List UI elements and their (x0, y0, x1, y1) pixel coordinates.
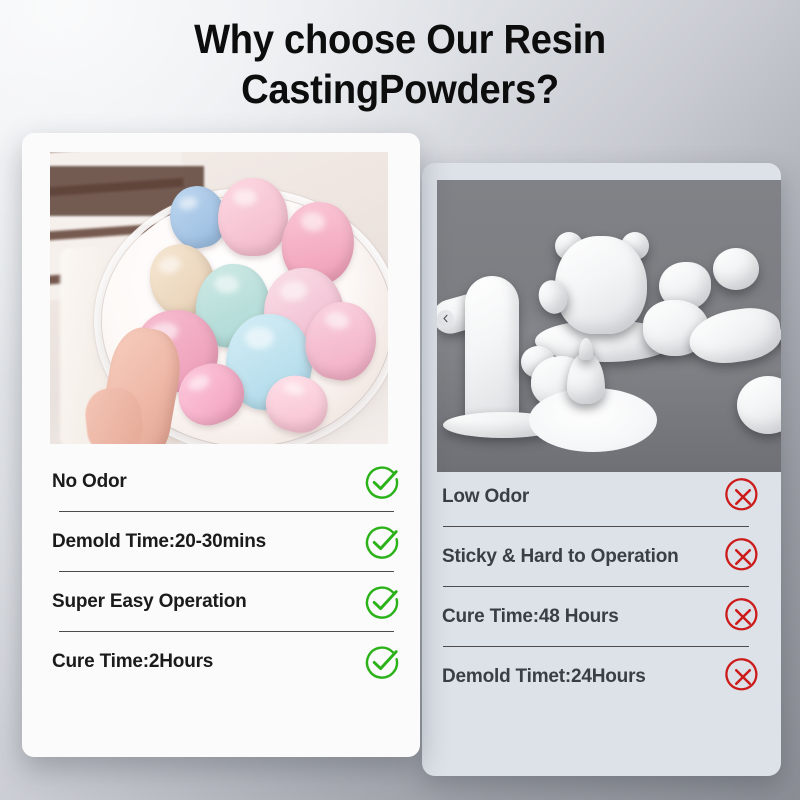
feature-divider (59, 571, 394, 572)
cross-circle-icon (723, 597, 763, 637)
feature-label: Cure Time:2Hours (52, 651, 213, 673)
feature-row: No Odor (52, 460, 402, 503)
feature-label: Demold Time:20-30mins (52, 531, 266, 553)
chevron-left-icon (441, 314, 450, 323)
feature-row: Super Easy Operation (52, 580, 402, 623)
our-product-card: No Odor Demold Time:20-30mins (22, 133, 420, 757)
other-product-card: Low Odor Sticky & Hard to Operation (422, 163, 781, 776)
feature-label: Cure Time:48 Hours (442, 606, 619, 628)
other-product-feature-list: Low Odor Sticky & Hard to Operation (422, 475, 781, 698)
check-circle-icon (362, 582, 402, 622)
cross-circle-icon (723, 477, 763, 517)
feature-label: Low Odor (442, 486, 529, 508)
feature-row: Demold Time:20-30mins (52, 520, 402, 563)
carousel-prev-button[interactable] (437, 310, 454, 327)
feature-divider (443, 646, 749, 647)
feature-row: Cure Time:2Hours (52, 640, 402, 683)
page-title: Why choose Our Resin CastingPowders? (28, 14, 772, 114)
feature-divider (59, 631, 394, 632)
other-product-photo (437, 180, 781, 472)
cross-circle-icon (723, 537, 763, 577)
feature-label: Demold Timet:24Hours (442, 666, 646, 688)
cross-circle-icon (723, 657, 763, 697)
check-circle-icon (362, 462, 402, 502)
feature-row: Demold Timet:24Hours (442, 655, 763, 698)
feature-row: Cure Time:48 Hours (442, 595, 763, 638)
feature-row: Sticky & Hard to Operation (442, 535, 763, 578)
feature-divider (59, 511, 394, 512)
figurine (218, 178, 288, 256)
feature-divider (443, 526, 749, 527)
feature-divider (443, 586, 749, 587)
check-circle-icon (362, 522, 402, 562)
our-product-photo (50, 152, 388, 444)
resin-cactus (465, 276, 519, 426)
feature-label: Super Easy Operation (52, 591, 247, 613)
check-circle-icon (362, 642, 402, 682)
resin-blob (713, 248, 759, 290)
feature-row: Low Odor (442, 475, 763, 518)
resin-bear (555, 236, 647, 334)
feature-label: No Odor (52, 471, 127, 493)
feature-label: Sticky & Hard to Operation (442, 546, 679, 568)
infographic-canvas: Why choose Our Resin CastingPowders? (0, 0, 800, 800)
our-product-feature-list: No Odor Demold Time:20-30mins (22, 460, 420, 683)
